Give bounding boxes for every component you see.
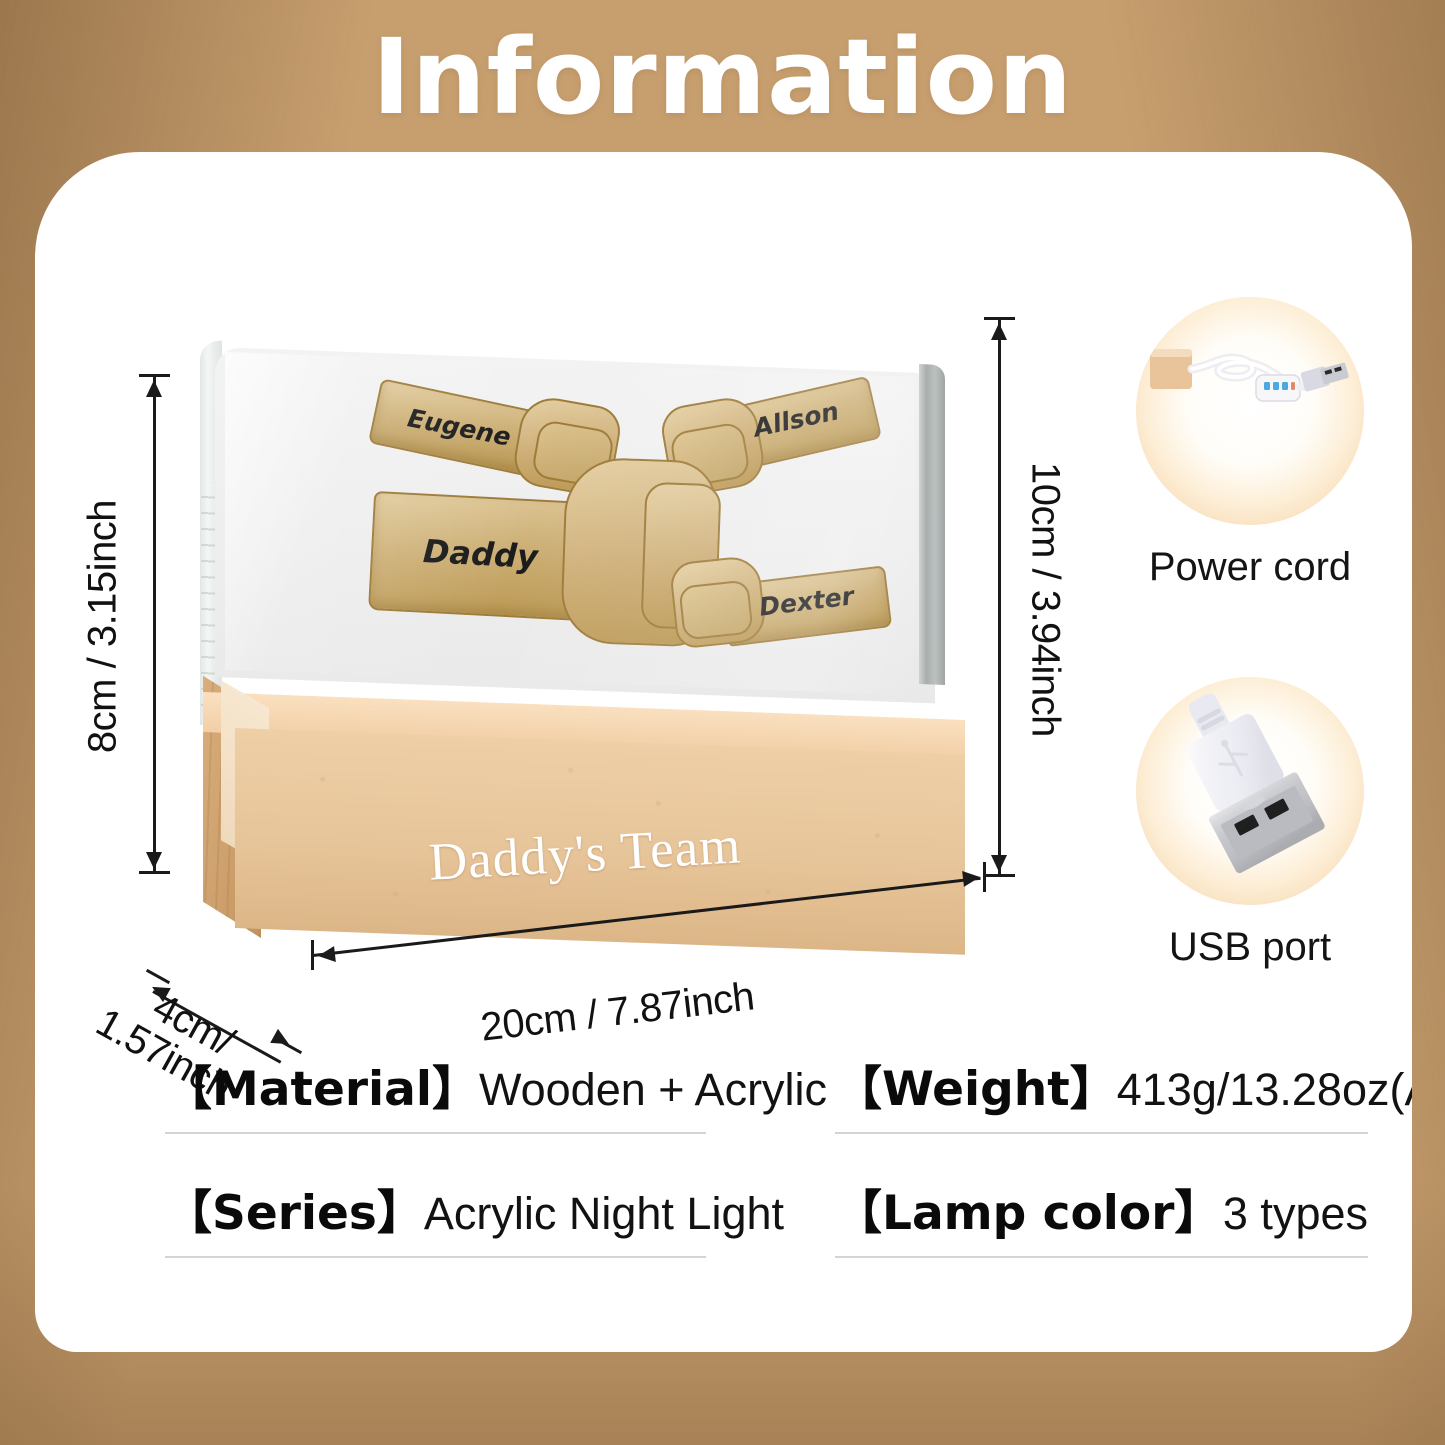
accessory-usb-port: USB port — [1100, 677, 1400, 997]
dim-8cm-line — [153, 374, 156, 874]
dim-10cm-cap-top — [984, 317, 1015, 320]
acrylic-right-edge — [919, 364, 945, 685]
spec-divider-lamp-color — [835, 1256, 1368, 1258]
dim-20cm-arrow-left — [317, 946, 336, 964]
spec-row-weight: 【Weight】 413g/13.28oz(About) — [835, 1050, 1368, 1119]
dim-10cm-arrow-bottom — [991, 855, 1007, 872]
page-title: Information — [0, 18, 1445, 138]
dim-8cm-arrow-bottom — [146, 852, 162, 869]
usb-port-circle — [1136, 677, 1364, 905]
power-cord-label: Power cord — [1100, 545, 1400, 590]
dim-label-8cm: 8cm / 3.15inch — [81, 497, 126, 757]
dim-20cm-cap-left — [311, 940, 314, 970]
dim-10cm-cap-bottom — [984, 874, 1015, 877]
dim-8cm-cap-bottom — [139, 871, 170, 874]
power-cord-icon — [1136, 297, 1364, 525]
usb-port-label: USB port — [1100, 925, 1400, 970]
spec-value-lamp-color: 3 types — [1223, 1188, 1368, 1240]
spec-value-weight: 413g/13.28oz(About) — [1117, 1064, 1412, 1116]
spec-value-series: Acrylic Night Light — [424, 1188, 784, 1240]
spec-key-weight: 【Weight】 — [835, 1050, 1117, 1119]
spec-divider-series — [165, 1256, 706, 1258]
info-card: Eugene Allson Daddy Dexter Daddy's Team — [35, 152, 1412, 1352]
spec-row-lamp-color: 【Lamp color】 3 types — [835, 1174, 1368, 1243]
spec-value-material: Wooden + Acrylic — [479, 1064, 827, 1116]
dim-8cm-cap-top — [139, 374, 170, 377]
spec-row-series: 【Series】 Acrylic Night Light — [165, 1174, 710, 1243]
spec-key-lamp-color: 【Lamp color】 — [835, 1174, 1221, 1243]
name-tag-daddy: Daddy — [422, 532, 539, 576]
accessory-power-cord: Power cord — [1100, 297, 1400, 617]
fist-bump-artwork: Eugene Allson Daddy Dexter — [385, 387, 885, 677]
dim-8cm-arrow-top — [146, 380, 162, 397]
product-illustration: Eugene Allson Daddy Dexter Daddy's Team — [35, 152, 1412, 1022]
specification-table: 【Material】 Wooden + Acrylic 【Weight】 413… — [35, 1032, 1412, 1352]
dim-label-10cm: 10cm / 3.94inch — [1023, 455, 1068, 745]
spec-row-material: 【Material】 Wooden + Acrylic — [165, 1050, 710, 1119]
spec-key-series: 【Series】 — [165, 1174, 424, 1243]
dim-10cm-arrow-top — [991, 323, 1007, 340]
power-cord-circle — [1136, 297, 1364, 525]
fist-dexter-knuckles — [678, 579, 753, 640]
usb-port-icon — [1136, 677, 1364, 905]
spec-divider-weight — [835, 1132, 1368, 1134]
dim-20cm-arrow-right — [962, 869, 981, 887]
spec-divider-material — [165, 1132, 706, 1134]
spec-key-material: 【Material】 — [165, 1050, 479, 1119]
dim-20cm-cap-right — [983, 862, 986, 892]
dim-10cm-line — [998, 317, 1001, 877]
